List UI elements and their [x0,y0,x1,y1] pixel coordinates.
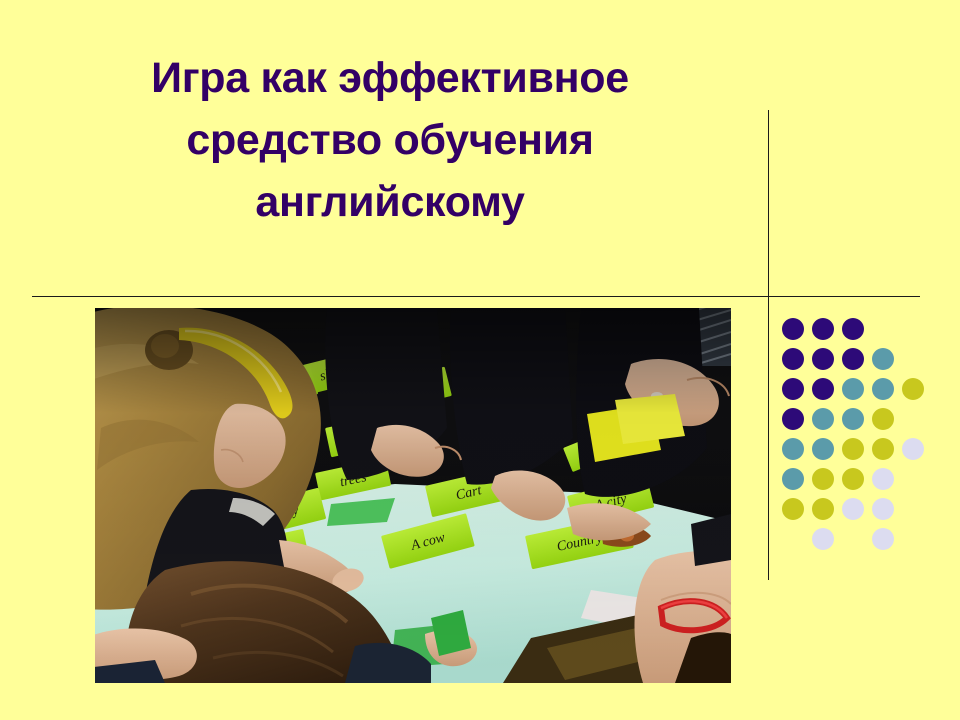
decor-dot [812,438,834,460]
decor-dot [842,378,864,400]
decor-dot [812,498,834,520]
decor-dot [842,438,864,460]
decor-dot [812,318,834,340]
decor-dot [872,438,894,460]
decor-dot [812,348,834,370]
decor-dot [872,498,894,520]
decorative-dot-grid [782,318,942,548]
decor-dot [842,468,864,490]
classroom-photo: sheepJeepPathTo climbcurioustreesCarthap… [95,308,731,683]
decor-dot [872,348,894,370]
decor-dot [872,468,894,490]
decor-dot [872,408,894,430]
decor-dot [812,528,834,550]
decor-dot [812,468,834,490]
decor-dot [872,528,894,550]
classroom-photo-graphic: sheepJeepPathTo climbcurioustreesCarthap… [95,308,731,683]
decor-dot [842,498,864,520]
decor-dot [842,408,864,430]
decor-dot [782,378,804,400]
horizontal-divider [32,296,920,297]
page-title: Игра как эффективное средство обучения а… [40,48,740,234]
decor-dot [782,468,804,490]
decor-dot [812,408,834,430]
decor-dot [782,408,804,430]
decor-dot [842,348,864,370]
decor-dot [902,378,924,400]
vertical-divider [768,110,769,580]
decor-dot [782,348,804,370]
decor-dot [812,378,834,400]
decor-dot [872,378,894,400]
decor-dot [782,318,804,340]
decor-dot [782,438,804,460]
decor-dot [842,318,864,340]
decor-dot [782,498,804,520]
decor-dot [902,438,924,460]
presentation-slide: Игра как эффективное средство обучения а… [0,0,960,720]
